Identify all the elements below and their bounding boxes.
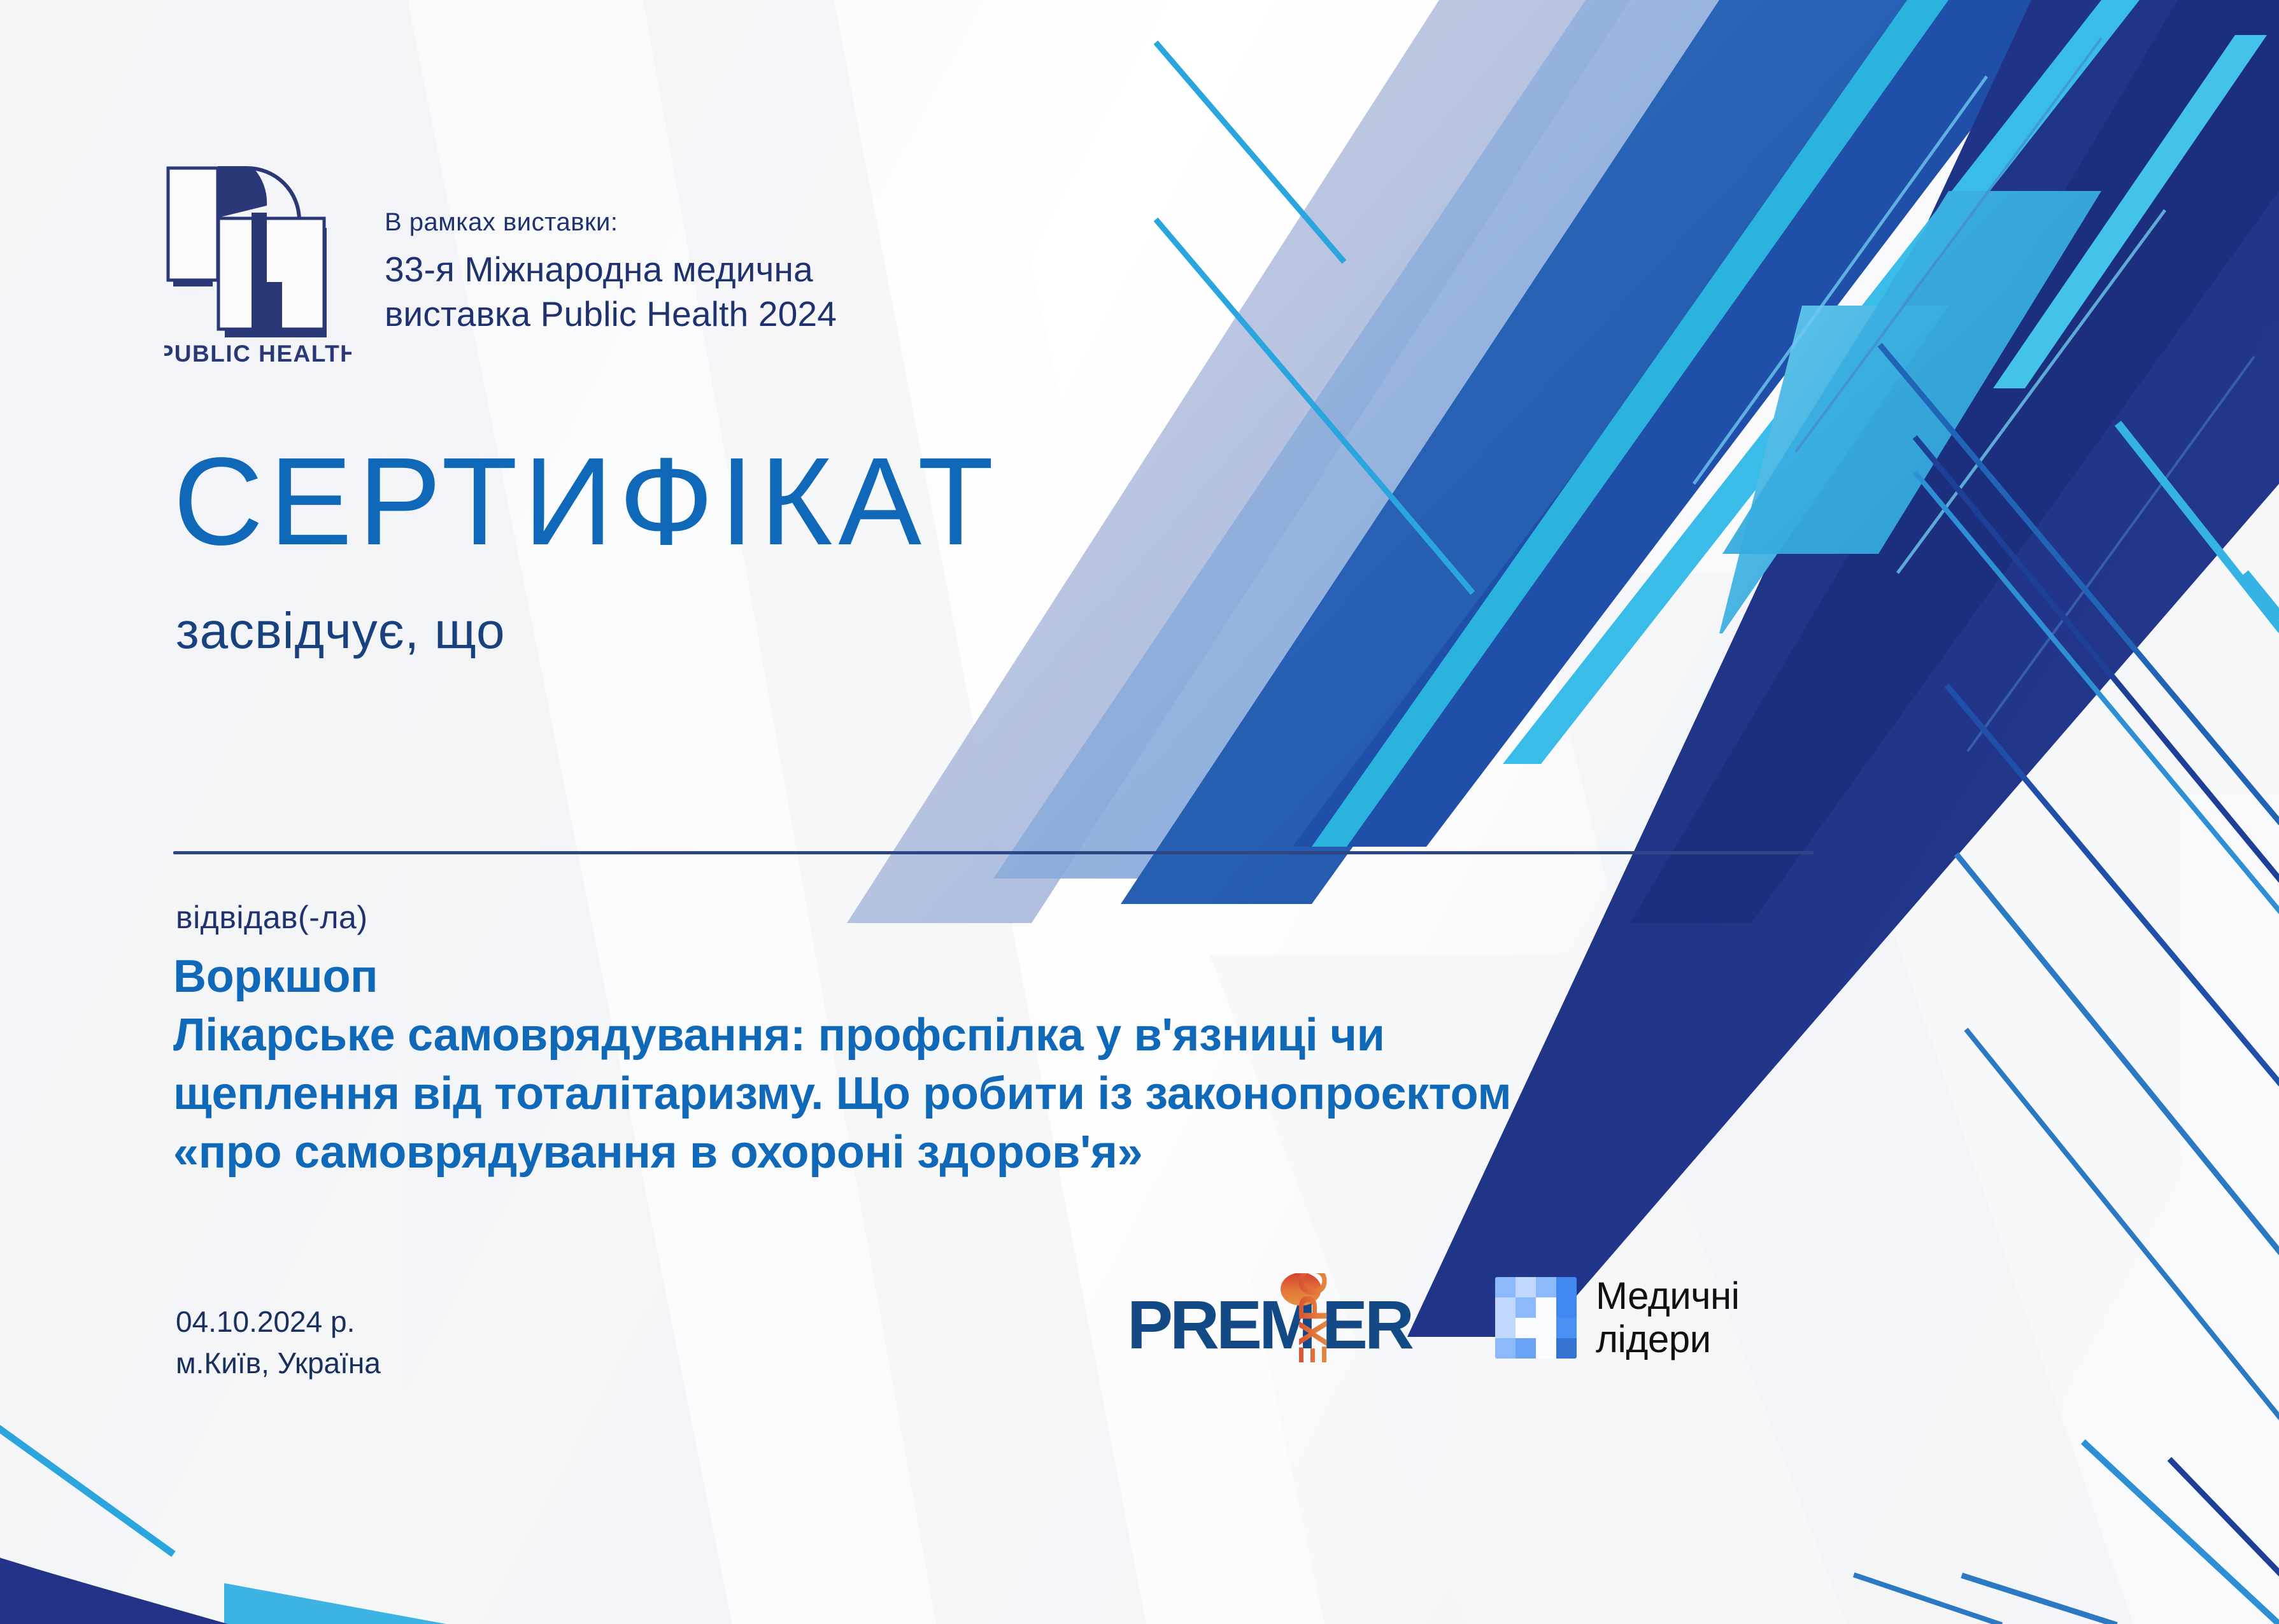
page-title: СЕРТИФІКАТ [173,439,1000,564]
page-subtitle: засвідчує, що [176,602,506,660]
exhibition-prefix: В рамках виставки: [385,208,837,237]
partner-logos: PREM EXPO ER Медичні лідери [1127,1273,1739,1362]
premier-expo-logo: PREM EXPO ER [1127,1273,1420,1362]
event-title-line-1: Лікарське самоврядування: профспілка у в… [173,1006,1511,1064]
event-title-line-3: «про самоврядування в охороні здоров'я» [173,1123,1511,1182]
certificate-page: PUBLIC HEALTH В рамках виставки: 33-я Мі… [0,0,2279,1624]
attended-label: відвідав(-ла) [176,899,368,936]
medical-leaders-text: Медичні лідери [1596,1274,1739,1362]
issue-date: 04.10.2024 р. [176,1301,381,1343]
issue-location: м.Київ, Україна [176,1343,381,1384]
premier-text-suffix: ER [1322,1286,1413,1362]
medical-cross-icon [1495,1277,1577,1359]
event-title-line-2: щеплення від тоталітаризму. Що робити із… [173,1064,1511,1123]
medical-leaders-logo: Медичні лідери [1495,1274,1739,1362]
certificate-header: PUBLIC HEALTH В рамках виставки: 33-я Мі… [164,158,837,368]
public-health-logo: PUBLIC HEALTH [164,158,351,368]
exhibition-name-line-1: 33-я Міжнародна медична [385,247,837,292]
medical-leaders-line-2: лідери [1596,1318,1739,1361]
section-divider [173,851,1814,854]
event-details: Воркшоп Лікарське самоврядування: профсп… [173,947,1511,1182]
public-health-wordmark: PUBLIC HEALTH [164,341,351,367]
certificate-meta: 04.10.2024 р. м.Київ, Україна [176,1301,381,1385]
exhibition-name-line-2: виставка Public Health 2024 [385,292,837,336]
event-kind: Воркшоп [173,947,1511,1006]
medical-leaders-line-1: Медичні [1596,1274,1739,1318]
